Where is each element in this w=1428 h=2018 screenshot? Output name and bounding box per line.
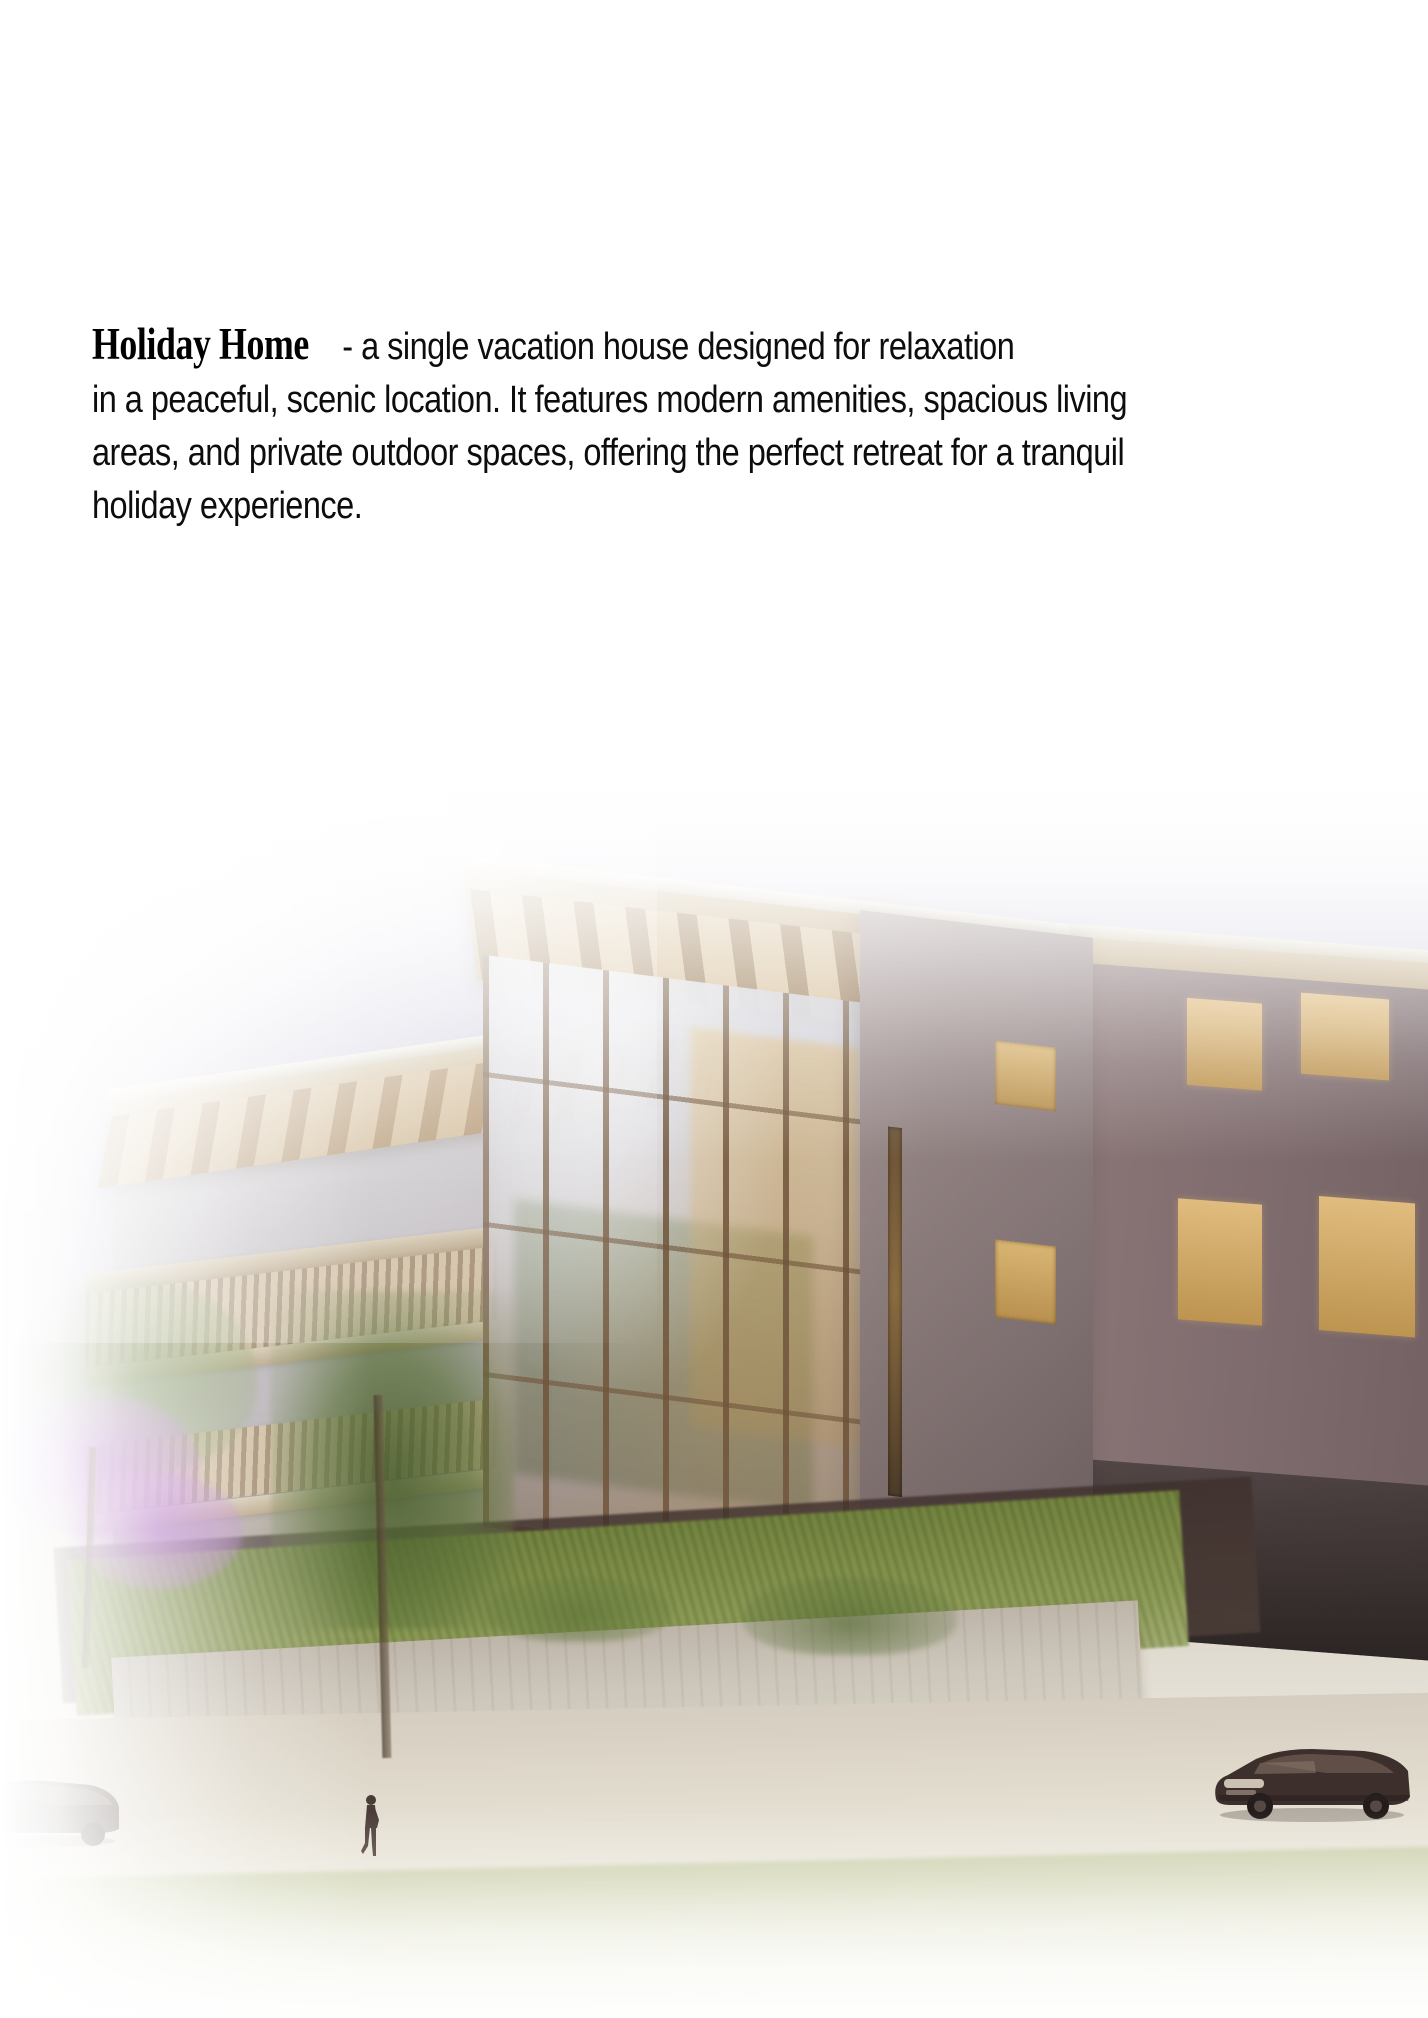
tower-slot-window bbox=[888, 1127, 902, 1498]
description-line-4: holiday experience. bbox=[92, 480, 1234, 533]
shrub-b bbox=[743, 1577, 957, 1655]
page-title: Holiday Home bbox=[92, 318, 309, 371]
tree-purple-blossom-b bbox=[71, 1473, 242, 1590]
description-line-3: areas, and private outdoor spaces, offer… bbox=[92, 427, 1234, 480]
description-line-2: in a peaceful, scenic location. It featu… bbox=[92, 374, 1234, 427]
glass-curtain-wall bbox=[483, 954, 867, 1575]
architectural-rendering bbox=[0, 720, 1428, 2018]
parked-suv bbox=[0, 1771, 123, 1849]
document-page: Holiday Home - a single vacation house d… bbox=[0, 0, 1428, 2018]
right-window-upper-b bbox=[1301, 993, 1389, 1080]
glass-horizontal-transoms bbox=[483, 954, 867, 1575]
description-line-1-text: - a single vacation house designed for r… bbox=[334, 326, 1015, 368]
shrub-a bbox=[486, 1577, 672, 1642]
description-paragraph: Holiday Home - a single vacation house d… bbox=[92, 318, 1234, 533]
parked-sedan bbox=[1204, 1737, 1414, 1823]
description-line-1: Holiday Home - a single vacation house d… bbox=[92, 318, 1234, 374]
description-block: Holiday Home - a single vacation house d… bbox=[92, 318, 1428, 533]
street-tree-canopy bbox=[271, 1291, 514, 1628]
right-window-upper-a bbox=[1187, 997, 1262, 1090]
tower-window-lower bbox=[995, 1239, 1056, 1324]
right-window-mid-b bbox=[1318, 1195, 1415, 1337]
right-window-mid-a bbox=[1178, 1198, 1261, 1325]
pedestrian-figure bbox=[361, 1794, 381, 1860]
tower-window-upper bbox=[995, 1040, 1056, 1111]
